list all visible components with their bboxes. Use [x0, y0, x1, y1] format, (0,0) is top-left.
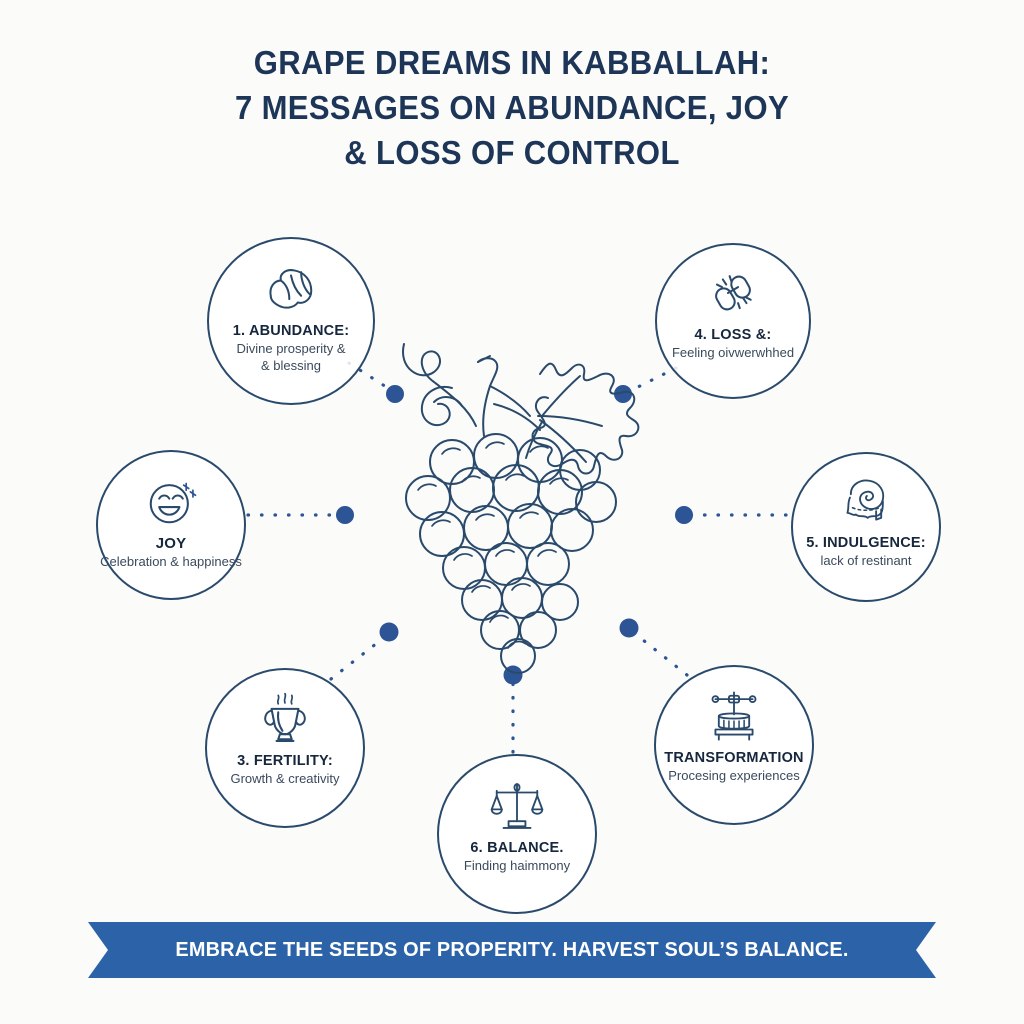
broken-chain-icon	[706, 266, 760, 320]
croissant-icon	[264, 262, 318, 316]
node-loss-subtitle-1: Feeling oivwerwhhed	[654, 344, 812, 361]
connector-dot-joy	[336, 506, 354, 524]
node-indulgence-text: 5. INDULGENCE: lack of restinant	[790, 534, 942, 569]
node-fertility-text: 3. FERTILITY: Growth & creativity	[204, 752, 366, 787]
cinnamon-roll-icon	[839, 474, 893, 528]
node-abundance[interactable]: 1. ABUNDANCE: Divine prosperity & & bles…	[207, 237, 375, 405]
banner-text: EMBRACE THE SEEDS OF PROPERITY. HARVEST …	[101, 922, 924, 978]
node-balance-text: 6. BALANCE. Finding haimmony	[436, 839, 598, 874]
connector-dot-indulgence	[675, 506, 693, 524]
banner: EMBRACE THE SEEDS OF PROPERITY. HARVEST …	[88, 922, 936, 978]
node-balance-title: 6. BALANCE.	[436, 839, 598, 857]
node-transformation-subtitle-1: Procesing experiences	[653, 767, 815, 784]
node-transformation-text: TRANSFORMATION Procesing experiences	[653, 749, 815, 784]
grape-cluster-illustration	[390, 330, 650, 680]
node-joy-title: JOY	[95, 535, 247, 553]
node-transformation[interactable]: TRANSFORMATION Procesing experiences	[654, 665, 814, 825]
node-indulgence[interactable]: 5. INDULGENCE: lack of restinant	[791, 452, 941, 602]
node-abundance-subtitle-1: Divine prosperity &	[206, 340, 377, 357]
node-indulgence-title: 5. INDULGENCE:	[790, 534, 942, 552]
node-joy-subtitle-1: Celebration & happiness	[95, 553, 247, 570]
node-transformation-title: TRANSFORMATION	[653, 749, 815, 767]
wine-press-icon	[707, 689, 761, 743]
node-indulgence-subtitle-1: lack of restinant	[790, 552, 942, 569]
node-joy[interactable]: JOY Celebration & happiness	[96, 450, 246, 600]
node-balance-subtitle-1: Finding haimmony	[436, 857, 598, 874]
node-loss-text: 4. LOSS &: Feeling oivwerwhhed	[654, 326, 812, 361]
node-loss-title: 4. LOSS &:	[654, 326, 812, 344]
node-loss[interactable]: 4. LOSS &: Feeling oivwerwhhed	[655, 243, 811, 399]
smiling-face-icon	[144, 475, 198, 529]
node-joy-text: JOY Celebration & happiness	[95, 535, 247, 570]
node-abundance-subtitle-2: & blessing	[206, 357, 377, 374]
infographic-canvas: GRAPE DREAMS IN KABBALLAH: 7 MESSAGES ON…	[0, 0, 1024, 1024]
node-balance[interactable]: 6. BALANCE. Finding haimmony	[437, 754, 597, 914]
node-fertility[interactable]: 3. FERTILITY: Growth & creativity	[205, 668, 365, 828]
node-fertility-subtitle-1: Growth & creativity	[204, 770, 366, 787]
steaming-cup-icon	[258, 692, 312, 746]
connector-fertility	[331, 636, 386, 679]
balance-scales-icon	[490, 779, 544, 833]
node-abundance-title: 1. ABUNDANCE:	[206, 322, 377, 340]
node-abundance-text: 1. ABUNDANCE: Divine prosperity & & bles…	[206, 322, 377, 374]
node-fertility-title: 3. FERTILITY:	[204, 752, 366, 770]
